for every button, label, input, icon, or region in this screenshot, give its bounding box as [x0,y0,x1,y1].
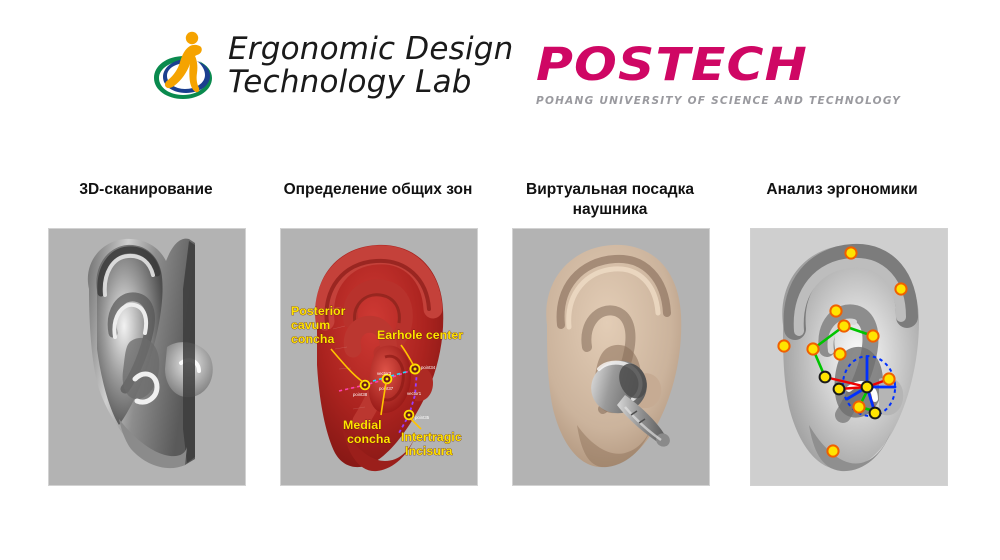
panel-caption-virtual-fit: Виртуальная посадка наушника [490,180,730,221]
panel-caption-virtual-fit-line2: наушника [490,200,730,220]
annotation-intertragic-incisura: Intertragic [401,430,462,444]
point-label: point38 [353,392,368,397]
edt-lab-logo-text: Ergonomic Design Technology Lab [228,33,514,99]
annotation-posterior-cavum-concha: concha [291,332,334,346]
vector-label: vector1 [407,391,422,396]
point-label: point34 [421,365,436,370]
panel-caption-common-zones: Определение общих зон [258,180,498,200]
gray-ear-with-landmark-graph [751,229,947,485]
panel-caption-3d-scanning: 3D-сканирование [26,180,266,200]
edt-lab-logo-mark [152,30,218,102]
skin-tone-ear-with-earbud [513,229,709,485]
edt-lab-logo-line1: Ergonomic Design [228,33,514,66]
panel-3d-scanning [48,228,246,486]
annotation-medial-concha: concha [347,432,390,446]
postech-subtitle: POHANG UNIVERSITY OF SCIENCE AND TECHNOL… [536,95,901,107]
panel-ergonomics [750,228,948,486]
panel-virtual-fit [512,228,710,486]
panel-common-zones: point38 point37 point34 point35 vector3 … [280,228,478,486]
panel-caption-virtual-fit-line1: Виртуальная посадка [490,180,730,200]
postech-wordmark: POSTECH [536,42,945,87]
vector-label: vector3 [377,371,392,376]
annotation-posterior-cavum-concha: cavum [291,318,330,332]
annotation-posterior-cavum-concha: Posterior [291,304,346,318]
edt-lab-logo: Ergonomic Design Technology Lab [152,30,514,102]
annotation-intertragic-incisura: Incisura [405,444,453,458]
annotation-medial-concha: Medial [343,418,382,432]
postech-logo: POSTECH POHANG UNIVERSITY OF SCIENCE AND… [536,42,901,107]
point-label: point37 [379,386,394,391]
header: Ergonomic Design Technology Lab POSTECH … [0,0,1000,140]
panel-caption-ergonomics: Анализ эргономики [722,180,962,200]
edt-lab-logo-line2: Technology Lab [228,66,514,99]
grayscale-3d-ear-scan [49,229,245,485]
red-ear-mesh-with-landmarks: point38 point37 point34 point35 vector3 … [281,229,477,485]
annotation-earhole-center: Earhole center [377,328,463,342]
point-label: point35 [415,415,430,420]
